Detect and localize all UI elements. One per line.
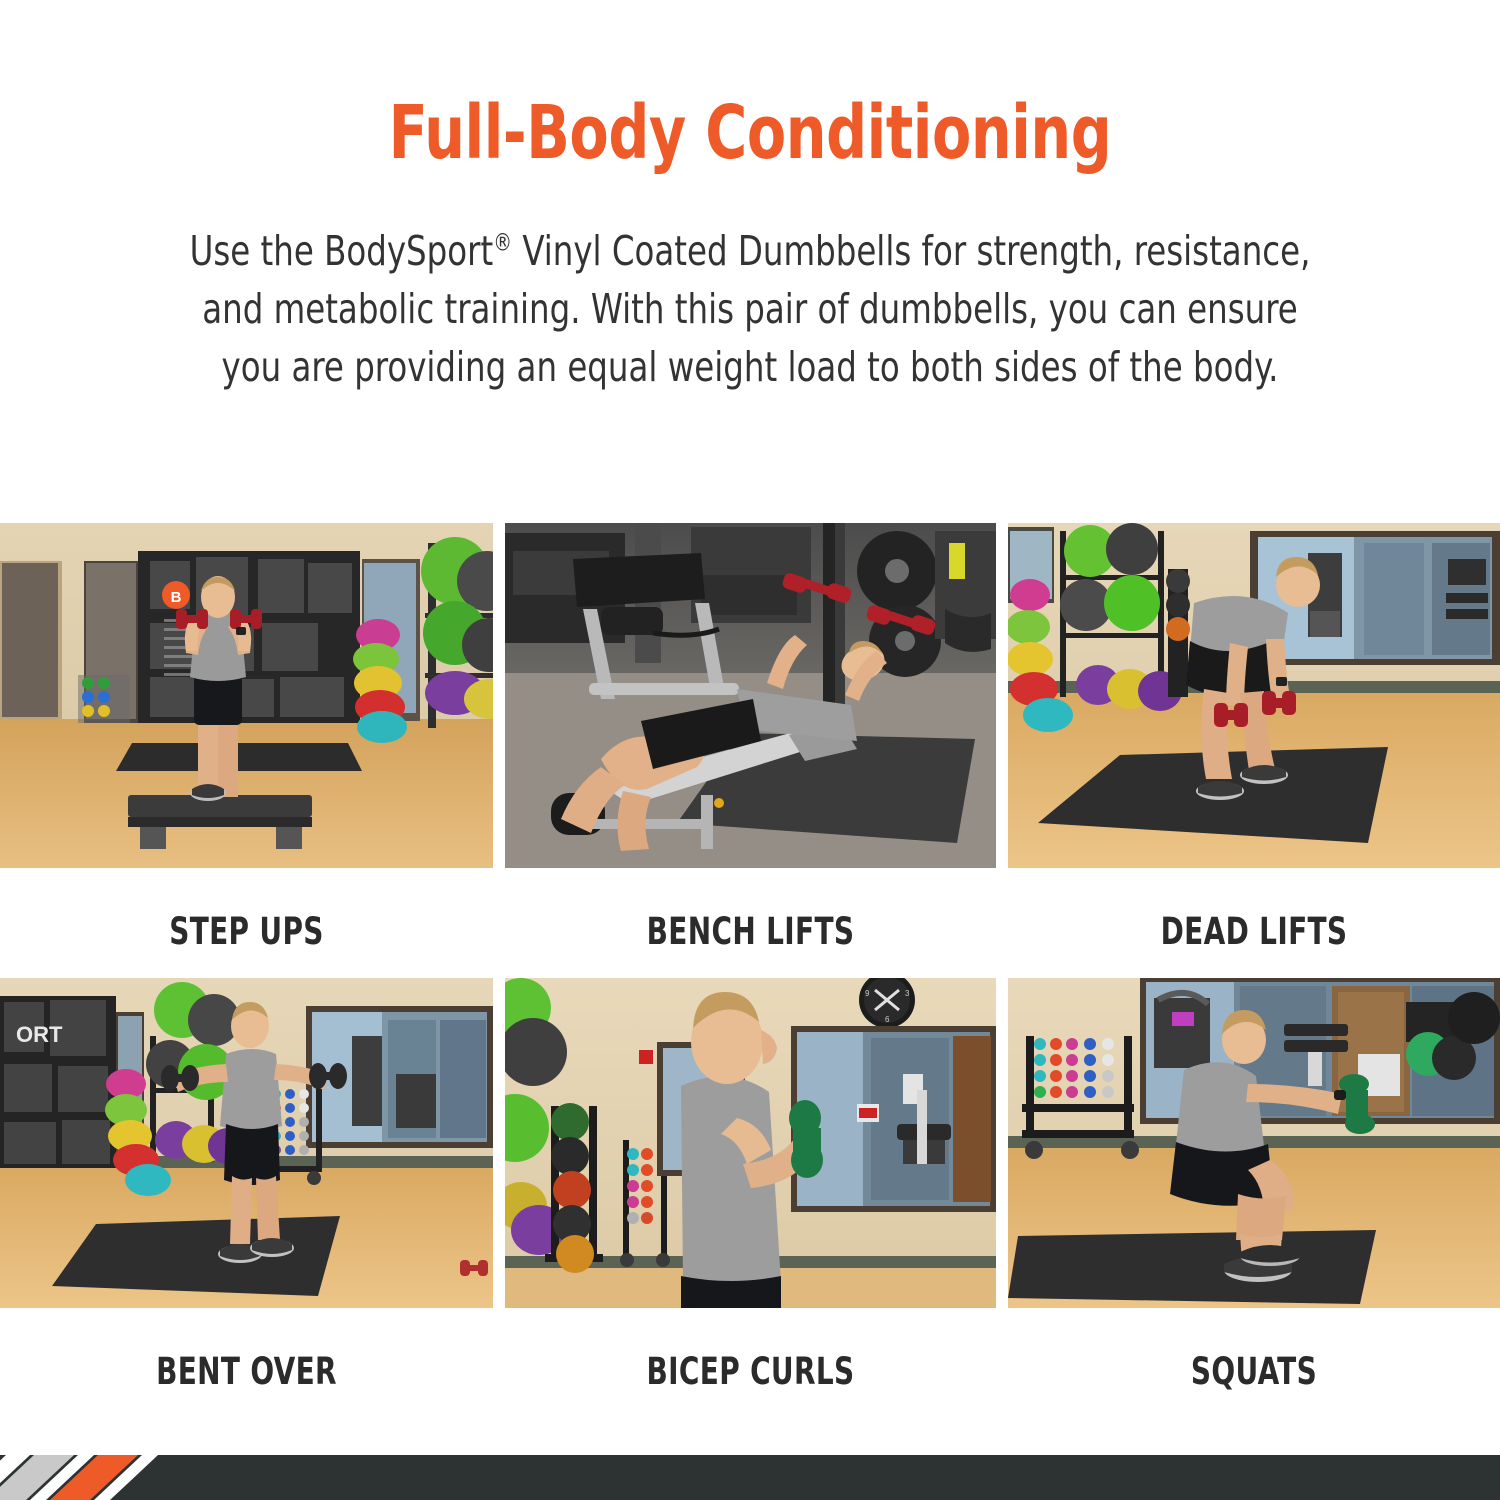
exercise-caption-dead-lifts: DEAD LIFTS <box>1047 910 1460 953</box>
exercise-caption-squats: SQUATS <box>1047 1350 1460 1393</box>
infographic-page: Full-Body Conditioning Use the BodySport… <box>0 0 1500 1500</box>
exercise-row-2: ORT <box>0 978 1500 1428</box>
svg-text:6: 6 <box>885 1015 890 1024</box>
exercise-caption-bent-over: BENT OVER <box>39 1350 453 1393</box>
page-subtitle: Use the BodySport® Vinyl Coated Dumbbell… <box>178 222 1322 397</box>
svg-text:9: 9 <box>865 989 870 998</box>
exercise-caption-step-ups: STEP UPS <box>39 910 453 953</box>
exercise-row-1: B <box>0 523 1500 978</box>
exercise-caption-bicep-curls: BICEP CURLS <box>544 1350 956 1393</box>
exercise-photo-bench-lifts <box>505 523 996 868</box>
page-title: Full-Body Conditioning <box>105 96 1395 170</box>
registered-trademark-symbol: ® <box>493 228 512 256</box>
exercise-card-dead-lifts: DEAD LIFTS <box>1008 523 1500 953</box>
svg-text:B: B <box>171 589 182 606</box>
exercise-card-bent-over: ORT <box>0 978 493 1393</box>
exercise-photo-bicep-curls: 9 3 6 <box>505 978 996 1308</box>
footer-bar <box>0 1455 1500 1500</box>
exercise-photo-squats <box>1008 978 1500 1308</box>
exercise-photo-dead-lifts <box>1008 523 1500 868</box>
exercise-photo-step-ups: B <box>0 523 493 868</box>
exercise-caption-bench-lifts: BENCH LIFTS <box>544 910 956 953</box>
exercise-card-step-ups: B <box>0 523 493 953</box>
exercise-photo-bent-over: ORT <box>0 978 493 1308</box>
svg-text:3: 3 <box>905 989 910 998</box>
svg-text:ORT: ORT <box>16 1022 63 1047</box>
exercise-card-bench-lifts: BENCH LIFTS <box>505 523 996 953</box>
header: Full-Body Conditioning Use the BodySport… <box>0 0 1500 397</box>
subtitle-text-part1: Use the BodySport <box>190 227 494 275</box>
exercise-card-squats: SQUATS <box>1008 978 1500 1393</box>
exercise-grid: B <box>0 523 1500 1428</box>
exercise-card-bicep-curls: 9 3 6 <box>505 978 996 1393</box>
